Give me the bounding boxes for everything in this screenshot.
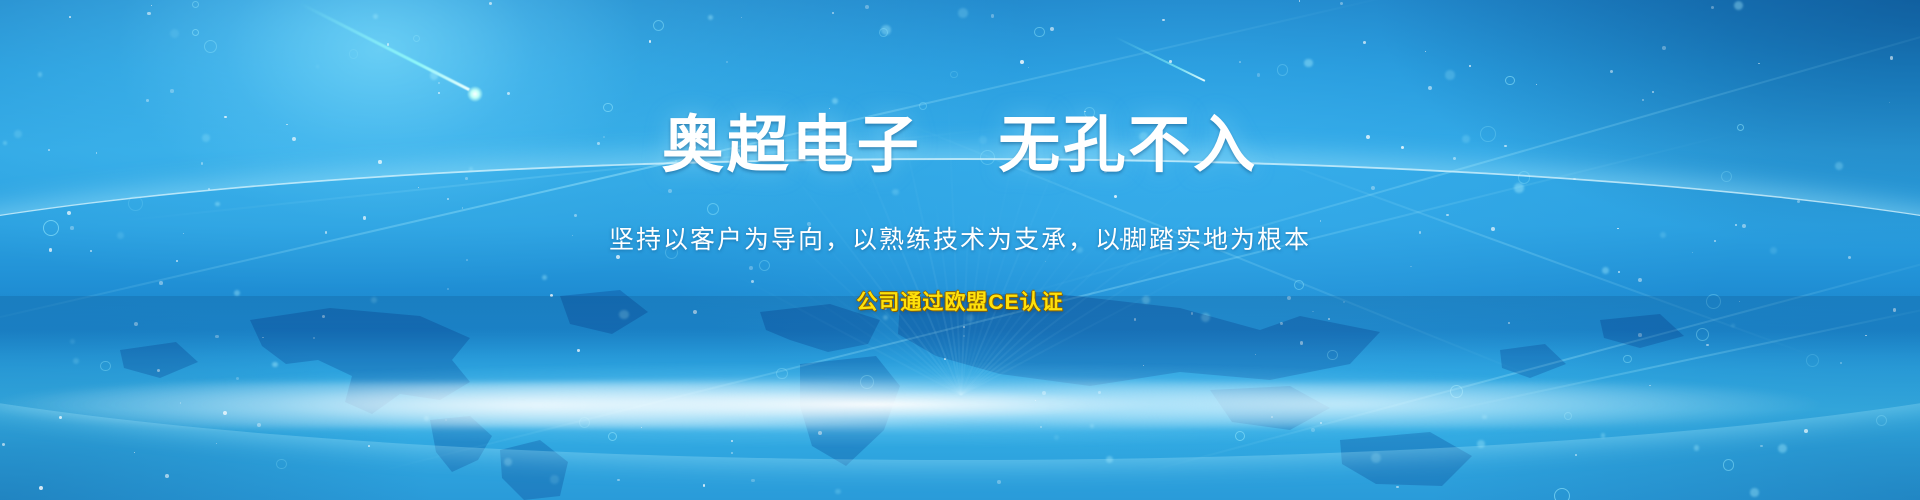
- banner-headline: 奥超电子 无孔不入: [0, 0, 1920, 182]
- headline-part-1: 奥超电子: [662, 111, 922, 180]
- certification-badge: 公司通过欧盟CE认证: [0, 256, 1920, 316]
- banner-subtitle: 坚持以客户为导向，以熟练技术为支承，以脚踏实地为根本: [0, 182, 1920, 256]
- promo-banner: 奥超电子 无孔不入 坚持以客户为导向，以熟练技术为支承，以脚踏实地为根本 公司通…: [0, 0, 1920, 500]
- headline-part-2: 无孔不入: [998, 111, 1258, 180]
- banner-content: 奥超电子 无孔不入 坚持以客户为导向，以熟练技术为支承，以脚踏实地为根本 公司通…: [0, 0, 1920, 316]
